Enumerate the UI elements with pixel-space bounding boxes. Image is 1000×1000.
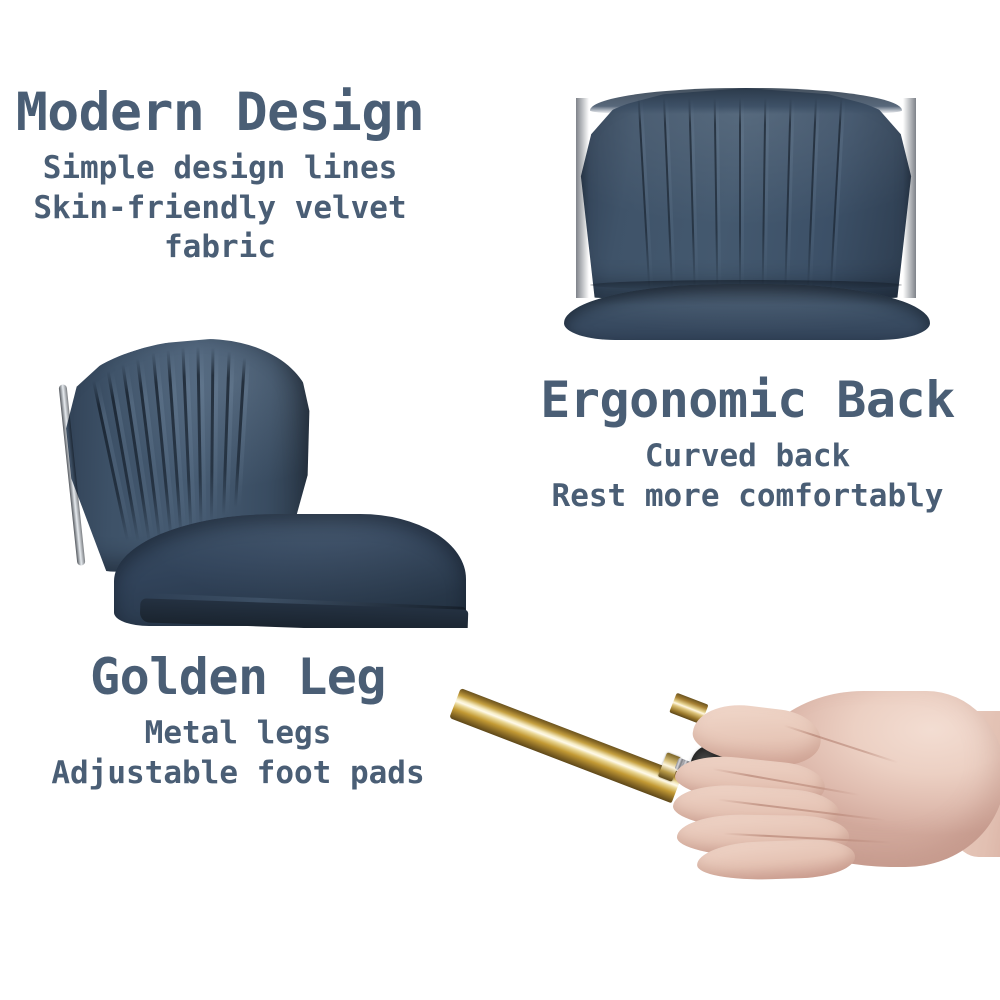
feature-modern-design: Modern Design Simple design lines Skin-f…: [0, 86, 440, 268]
feature-line: Skin-friendly velvet: [0, 189, 440, 229]
golden-leg-tube: [449, 688, 683, 803]
feature-line: Adjustable foot pads: [18, 754, 458, 794]
feature-title-ergonomic-back: Ergonomic Back: [495, 375, 1000, 425]
photo-chair-angled: [52, 332, 472, 628]
infographic-page: Modern Design Simple design lines Skin-f…: [0, 0, 1000, 1000]
feature-title-golden-leg: Golden Leg: [18, 652, 458, 702]
photo-chair-backrest: [560, 88, 932, 340]
feature-line: Curved back: [495, 437, 1000, 477]
feature-golden-leg: Golden Leg Metal legs Adjustable foot pa…: [18, 652, 458, 793]
feature-subtext-golden-leg: Metal legs Adjustable foot pads: [18, 714, 458, 793]
feature-subtext-ergonomic-back: Curved back Rest more comfortably: [495, 437, 1000, 516]
feature-title-modern-design: Modern Design: [0, 86, 440, 139]
feature-ergonomic-back: Ergonomic Back Curved back Rest more com…: [495, 375, 1000, 516]
feature-subtext-modern-design: Simple design lines Skin-friendly velvet…: [0, 149, 440, 268]
feature-line: fabric: [0, 228, 440, 268]
feature-line: Metal legs: [18, 714, 458, 754]
photo-golden-leg-and-hand: [445, 683, 1000, 923]
hand: [671, 685, 1000, 917]
chair-backrest-channel-tufting: [574, 94, 918, 298]
feature-line: Rest more comfortably: [495, 477, 1000, 517]
feature-line: Simple design lines: [0, 149, 440, 189]
chair-backrest-right-edge: [903, 98, 916, 298]
chair-backrest-left-edge: [576, 98, 589, 298]
